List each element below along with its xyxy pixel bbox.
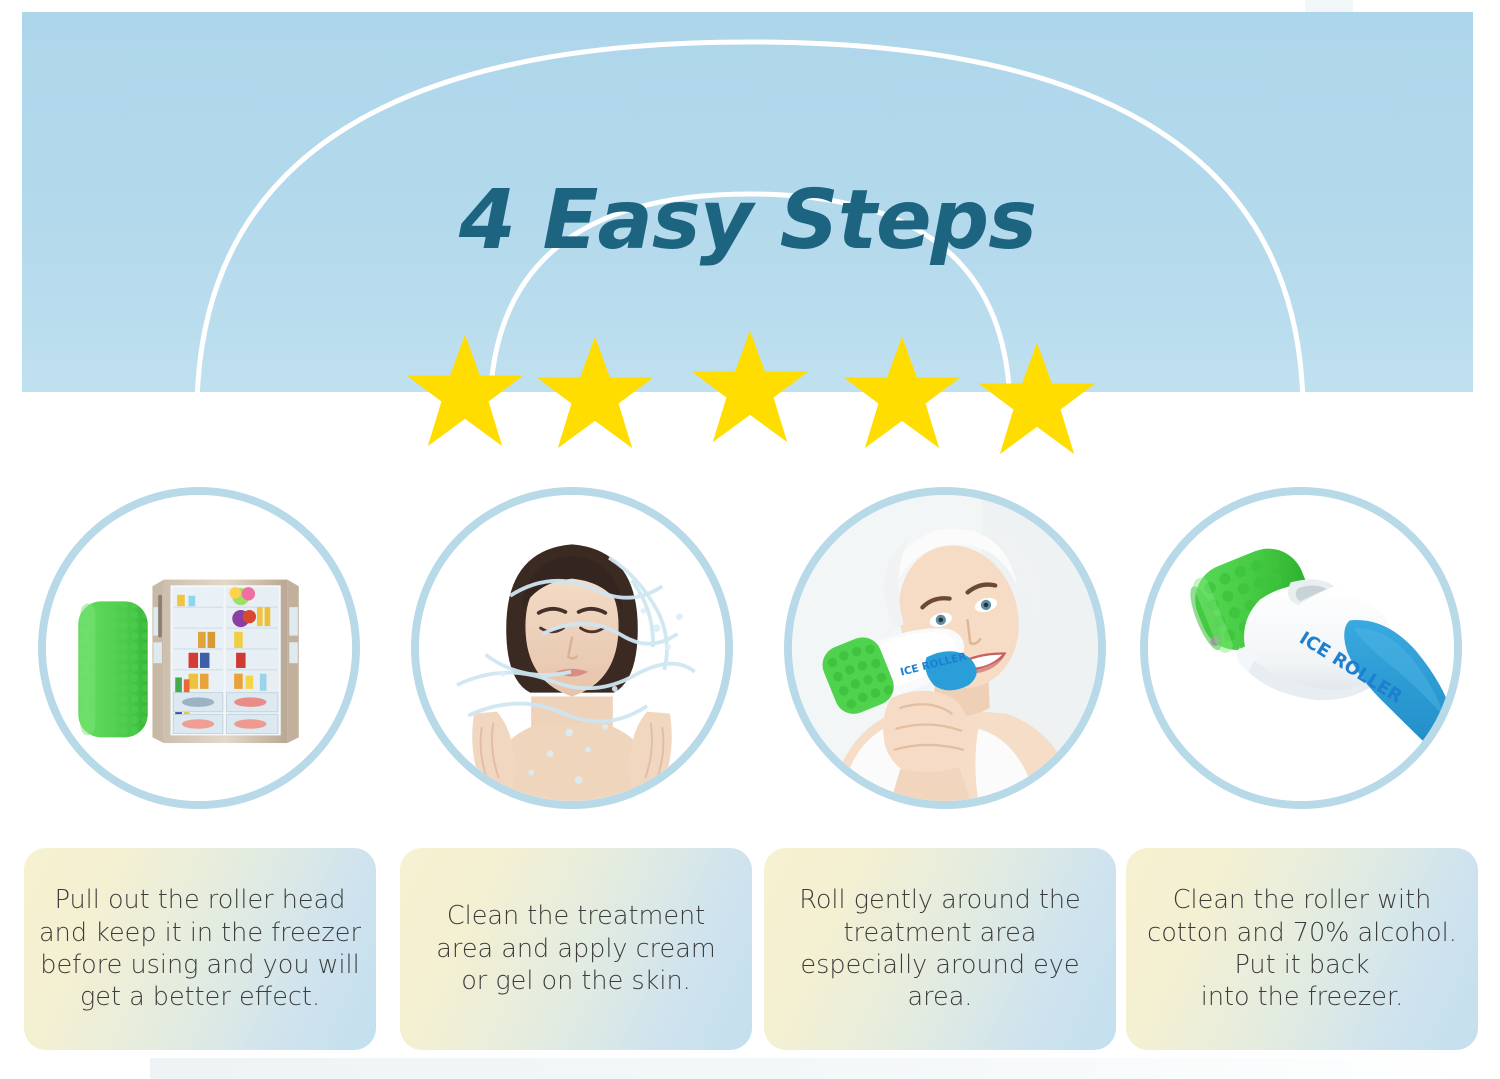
step-4-caption-text: Clean the roller with cotton and 70% alc… — [1141, 884, 1463, 1014]
bottom-faint-strip — [150, 1058, 1470, 1079]
step-1-image-circle — [38, 487, 360, 809]
step-2-caption-text: Clean the treatment area and apply cream… — [430, 900, 721, 997]
step-4-caption-box: Clean the roller with cotton and 70% alc… — [1126, 848, 1478, 1050]
step-captions-row: Pull out the roller head and keep it in … — [0, 848, 1500, 1053]
step-1-caption-box: Pull out the roller head and keep it in … — [24, 848, 376, 1050]
infographic-page: 4 Easy Steps — [0, 0, 1500, 1079]
step-2-image-circle — [411, 487, 733, 809]
step-images-row: ICE ROLLER — [0, 487, 1500, 817]
step-2-caption-box: Clean the treatment area and apply cream… — [400, 848, 752, 1050]
step-3-image-circle: ICE ROLLER — [784, 487, 1106, 809]
ice-roller-product-image: ICE ROLLER — [1148, 495, 1454, 801]
page-title: 4 Easy Steps — [22, 180, 1473, 262]
step-3-caption-text: Roll gently around the treatment area es… — [793, 884, 1087, 1014]
woman-using-ice-roller-image: ICE ROLLER — [792, 495, 1098, 801]
step-4-image-circle: ICE ROLLER — [1140, 487, 1462, 809]
step-1-caption-text: Pull out the roller head and keep it in … — [33, 884, 367, 1014]
woman-washing-face-image — [419, 495, 725, 801]
roller-head-and-refrigerator-image — [46, 495, 352, 801]
header-banner: 4 Easy Steps — [22, 12, 1473, 392]
step-3-caption-box: Roll gently around the treatment area es… — [764, 848, 1116, 1050]
